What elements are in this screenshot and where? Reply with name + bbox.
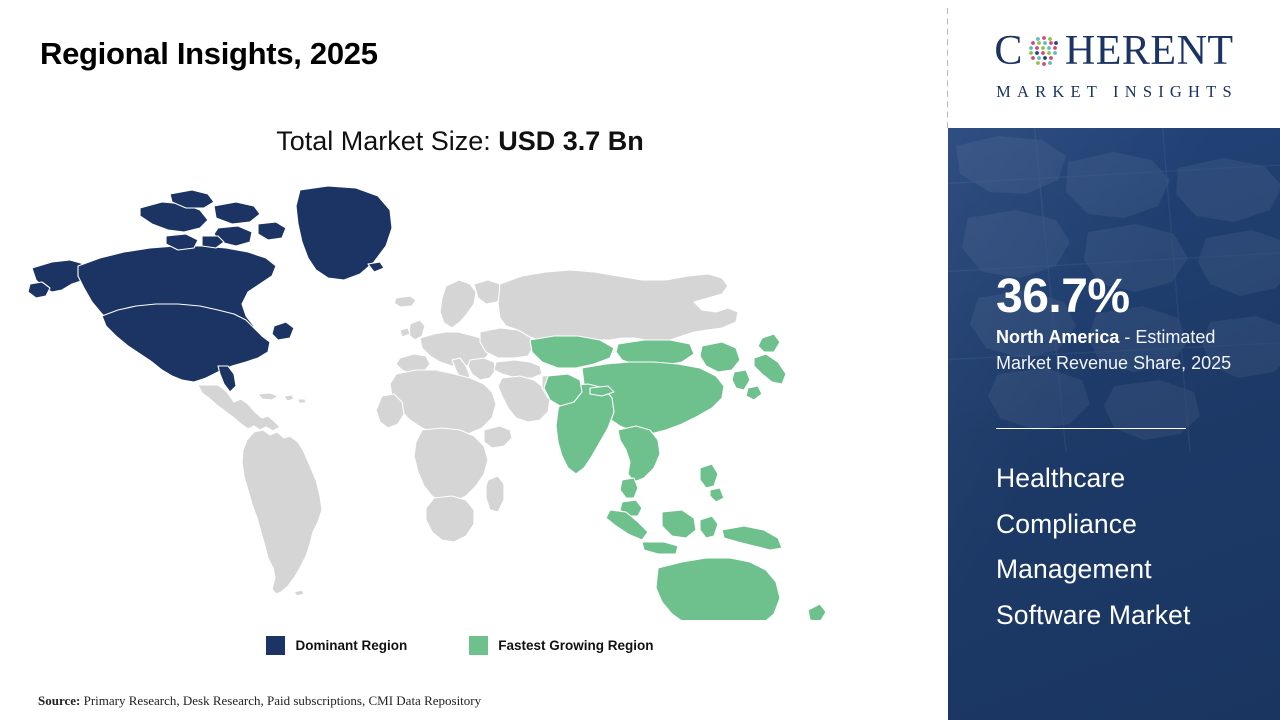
market-name: Healthcare Compliance Management Softwar… xyxy=(996,456,1258,638)
stat-description: North America - Estimated Market Revenue… xyxy=(996,324,1258,377)
legend-label-dominant: Dominant Region xyxy=(295,638,407,653)
map-fastest-asia-pacific xyxy=(530,334,832,620)
stat-region-name: North America xyxy=(996,327,1119,347)
fastest-growing-region-swatch xyxy=(469,636,488,655)
legend-item-dominant: Dominant Region xyxy=(266,636,407,655)
page-title: Regional Insights, 2025 xyxy=(40,36,378,72)
map-legend: Dominant Region Fastest Growing Region xyxy=(0,636,920,655)
source-note: Source: Primary Research, Desk Research,… xyxy=(38,693,481,709)
dominant-region-swatch xyxy=(266,636,285,655)
world-map-svg xyxy=(22,180,902,620)
stat-panel: 36.7% North America - Estimated Market R… xyxy=(948,128,1280,720)
left-content-pane: Regional Insights, 2025 Total Market Siz… xyxy=(0,0,948,720)
infographic-root: Regional Insights, 2025 Total Market Siz… xyxy=(0,0,1280,720)
source-text: Primary Research, Desk Research, Paid su… xyxy=(80,693,481,708)
logo-letter-c: C xyxy=(994,30,1023,72)
globe-dots-icon xyxy=(1024,31,1064,71)
market-size-label: Total Market Size: xyxy=(276,126,498,156)
world-map xyxy=(22,180,902,620)
brand-logo: C xyxy=(948,0,1280,128)
map-dominant-north-america xyxy=(28,186,392,392)
logo-wordmark-rest: HERENT xyxy=(1065,30,1234,72)
market-size-value: USD 3.7 Bn xyxy=(498,126,644,156)
logo-subtitle: MARKET INSIGHTS xyxy=(990,82,1238,102)
source-label: Source: xyxy=(38,693,80,708)
right-column: C xyxy=(948,0,1280,720)
logo-wordmark-row: C xyxy=(994,26,1233,76)
stat-panel-content: 36.7% North America - Estimated Market R… xyxy=(996,128,1280,720)
legend-item-fastest-growing: Fastest Growing Region xyxy=(469,636,653,655)
stat-percentage: 36.7% xyxy=(996,273,1130,321)
panel-divider-rule xyxy=(996,428,1186,429)
total-market-size: Total Market Size: USD 3.7 Bn xyxy=(0,126,920,157)
legend-label-fastest-growing: Fastest Growing Region xyxy=(498,638,653,653)
